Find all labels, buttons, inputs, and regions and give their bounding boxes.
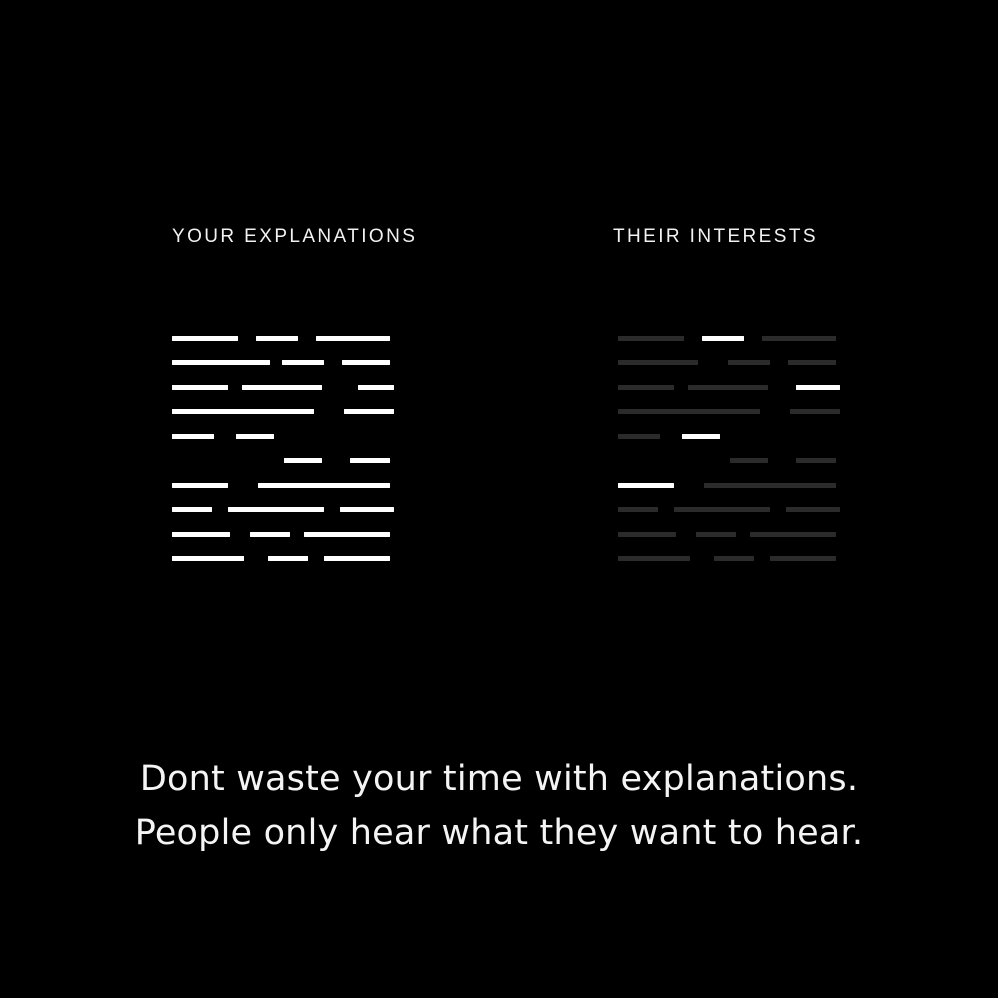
line-row — [172, 507, 394, 531]
line-row — [172, 409, 394, 433]
text-line-segment — [344, 409, 394, 414]
line-row — [618, 483, 840, 507]
text-line-segment — [618, 532, 676, 537]
line-row — [172, 336, 394, 360]
text-line-segment — [284, 458, 322, 463]
text-line-segment — [242, 385, 322, 390]
text-line-segment — [714, 556, 754, 561]
line-row — [172, 483, 394, 507]
text-line-segment — [258, 483, 390, 488]
text-line-segment — [228, 507, 324, 512]
text-line-segment — [618, 336, 684, 341]
text-line-segment — [172, 336, 238, 341]
text-line-segment — [256, 336, 298, 341]
text-line-segment — [172, 409, 314, 414]
line-row — [172, 458, 394, 482]
column-heading-right: THEIR INTERESTS — [613, 227, 818, 246]
text-line-segment — [268, 556, 308, 561]
text-line-segment — [172, 434, 214, 439]
column-heading-left: YOUR EXPLANATIONS — [172, 227, 417, 246]
text-line-segment — [682, 434, 720, 439]
text-line-segment — [618, 385, 674, 390]
text-line-segment — [796, 385, 840, 390]
text-line-segment — [340, 507, 394, 512]
text-line-segment — [618, 434, 660, 439]
caption: Dont waste your time with explanations. … — [0, 752, 998, 860]
line-row — [172, 532, 394, 556]
line-row — [618, 556, 840, 580]
line-row — [618, 434, 840, 458]
line-row — [618, 336, 840, 360]
line-row — [618, 360, 840, 384]
line-block-right — [618, 336, 840, 568]
text-line-segment — [172, 360, 270, 365]
text-line-segment — [674, 507, 770, 512]
text-line-segment — [750, 532, 836, 537]
text-line-segment — [304, 532, 390, 537]
text-line-segment — [796, 458, 836, 463]
text-line-segment — [730, 458, 768, 463]
text-line-segment — [172, 483, 228, 488]
text-line-segment — [358, 385, 394, 390]
text-line-segment — [172, 556, 244, 561]
text-line-segment — [236, 434, 274, 439]
text-line-segment — [282, 360, 324, 365]
text-line-segment — [790, 409, 840, 414]
text-line-segment — [704, 483, 836, 488]
line-block-left — [172, 336, 394, 568]
line-row — [618, 532, 840, 556]
line-row — [618, 385, 840, 409]
line-row — [172, 360, 394, 384]
text-line-segment — [172, 507, 212, 512]
line-row — [618, 507, 840, 531]
line-row — [618, 458, 840, 482]
caption-line-1: Dont waste your time with explanations. — [0, 752, 998, 806]
line-row — [172, 434, 394, 458]
text-line-segment — [696, 532, 736, 537]
text-line-segment — [350, 458, 390, 463]
text-line-segment — [172, 385, 228, 390]
text-line-segment — [172, 532, 230, 537]
text-line-segment — [618, 360, 698, 365]
text-line-segment — [728, 360, 770, 365]
line-row — [172, 385, 394, 409]
text-line-segment — [788, 360, 836, 365]
line-row — [172, 556, 394, 580]
text-line-segment — [316, 336, 390, 341]
caption-line-2: People only hear what they want to hear. — [0, 806, 998, 860]
text-line-segment — [250, 532, 290, 537]
text-line-segment — [618, 409, 760, 414]
text-line-segment — [770, 556, 836, 561]
text-line-segment — [618, 483, 674, 488]
text-line-segment — [688, 385, 768, 390]
text-line-segment — [786, 507, 840, 512]
text-line-segment — [762, 336, 836, 341]
text-line-segment — [702, 336, 744, 341]
line-row — [618, 409, 840, 433]
poster-canvas: YOUR EXPLANATIONS THEIR INTERESTS Dont w… — [0, 0, 998, 998]
text-line-segment — [618, 507, 658, 512]
text-line-segment — [618, 556, 690, 561]
text-line-segment — [324, 556, 390, 561]
text-line-segment — [342, 360, 390, 365]
